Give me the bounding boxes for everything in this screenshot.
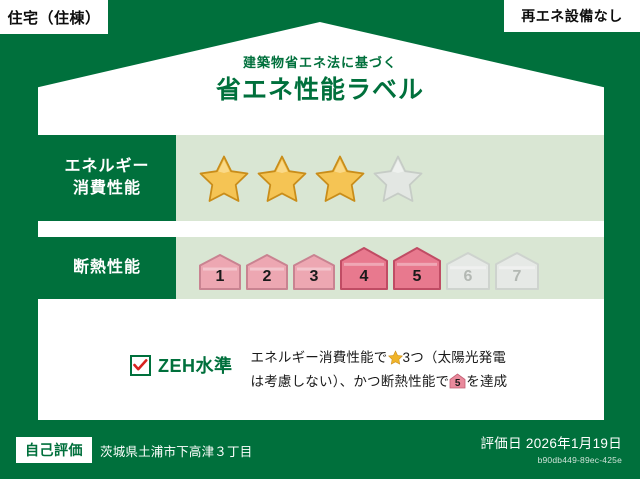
title-block: 建築物省エネ法に基づく 省エネ性能ラベル: [0, 56, 640, 105]
zeh-section: ZEH水準 エネルギー消費性能で3つ（太陽光発電は考慮しない）、かつ断熱性能で5…: [38, 330, 604, 393]
zeh-desc-star-count: 3つ（太陽光発電: [403, 350, 507, 365]
insulation-grade-badge-number: 4: [339, 268, 389, 286]
inline-insulation-badge: 5: [449, 373, 466, 389]
evaluation-date: 評価日 2026年1月19日: [480, 432, 622, 452]
inline-star-icon: [388, 349, 403, 364]
insulation-performance-label: 断熱性能: [73, 257, 141, 279]
inline-insulation-badge-number: 5: [449, 379, 466, 389]
insulation-grade-badge-7: 7: [494, 251, 540, 291]
energy-consumption-label-line2: 消費性能: [73, 178, 141, 200]
insulation-grade-badge-number: 7: [494, 268, 540, 286]
insulation-grade-badge-5: 5: [392, 246, 442, 291]
zeh-checkbox: [130, 355, 151, 376]
insulation-grade-badge-number: 1: [198, 268, 242, 286]
label-title: 省エネ性能ラベル: [0, 77, 640, 105]
property-address: 茨城県土浦市下高津３丁目: [100, 441, 252, 460]
insulation-grade-badge-4: 4: [339, 246, 389, 291]
check-icon: [133, 359, 148, 372]
building-type-tag: 住宅（住棟）: [0, 0, 108, 34]
energy-performance-label: 住宅（住棟） 再エネ設備なし 建築物省エネ法に基づく 省エネ性能ラベル エネルギ…: [0, 0, 640, 479]
building-type-tag-label: 住宅（住棟）: [7, 7, 100, 28]
star-filled-icon: [256, 153, 308, 203]
insulation-grade-badge-number: 2: [245, 268, 289, 286]
star-filled-icon: [198, 153, 250, 203]
energy-consumption-row-label: エネルギー 消費性能: [38, 135, 176, 221]
star-filled-icon: [314, 153, 366, 203]
renewable-energy-tag-label: 再エネ設備なし: [521, 6, 623, 26]
insulation-grade-badge-3: 3: [292, 253, 336, 291]
star-rating: [176, 135, 604, 221]
insulation-grade-badge-1: 1: [198, 253, 242, 291]
footer-right: 評価日 2026年1月19日 b90db449-89ec-425e: [480, 432, 622, 465]
insulation-grade-badge-6: 6: [445, 251, 491, 291]
insulation-grade-badge-2: 2: [245, 253, 289, 291]
insulation-badge-area: 1234567: [176, 237, 604, 299]
zeh-standard-mark: ZEH水準: [130, 352, 233, 378]
zeh-desc-part3: を達成: [466, 374, 507, 389]
star-empty-icon: [372, 153, 424, 203]
insulation-performance-row-label: 断熱性能: [38, 237, 176, 299]
label-subtitle: 建築物省エネ法に基づく: [0, 56, 640, 70]
zeh-desc-part1: エネルギー消費性能で: [251, 350, 388, 365]
renewable-energy-tag: 再エネ設備なし: [504, 0, 640, 32]
label-identifier: b90db449-89ec-425e: [480, 455, 622, 465]
insulation-grade-badge-number: 6: [445, 268, 491, 286]
self-evaluation-badge: 自己評価: [16, 437, 92, 463]
insulation-grade-badge-number: 5: [392, 268, 442, 286]
zeh-standard-label: ZEH水準: [158, 352, 233, 378]
zeh-description: エネルギー消費性能で3つ（太陽光発電は考慮しない）、かつ断熱性能で5を達成: [251, 346, 605, 393]
energy-consumption-row: エネルギー 消費性能: [38, 135, 604, 221]
zeh-desc-part2: は考慮しない）、かつ断熱性能で: [251, 374, 450, 389]
footer-left: 自己評価 茨城県土浦市下高津３丁目: [16, 437, 252, 463]
insulation-performance-row: 断熱性能 1234567: [38, 237, 604, 299]
energy-consumption-label-line1: エネルギー: [64, 156, 149, 178]
insulation-grade-badge-number: 3: [292, 268, 336, 286]
insulation-grade-scale: 1234567: [198, 245, 543, 291]
